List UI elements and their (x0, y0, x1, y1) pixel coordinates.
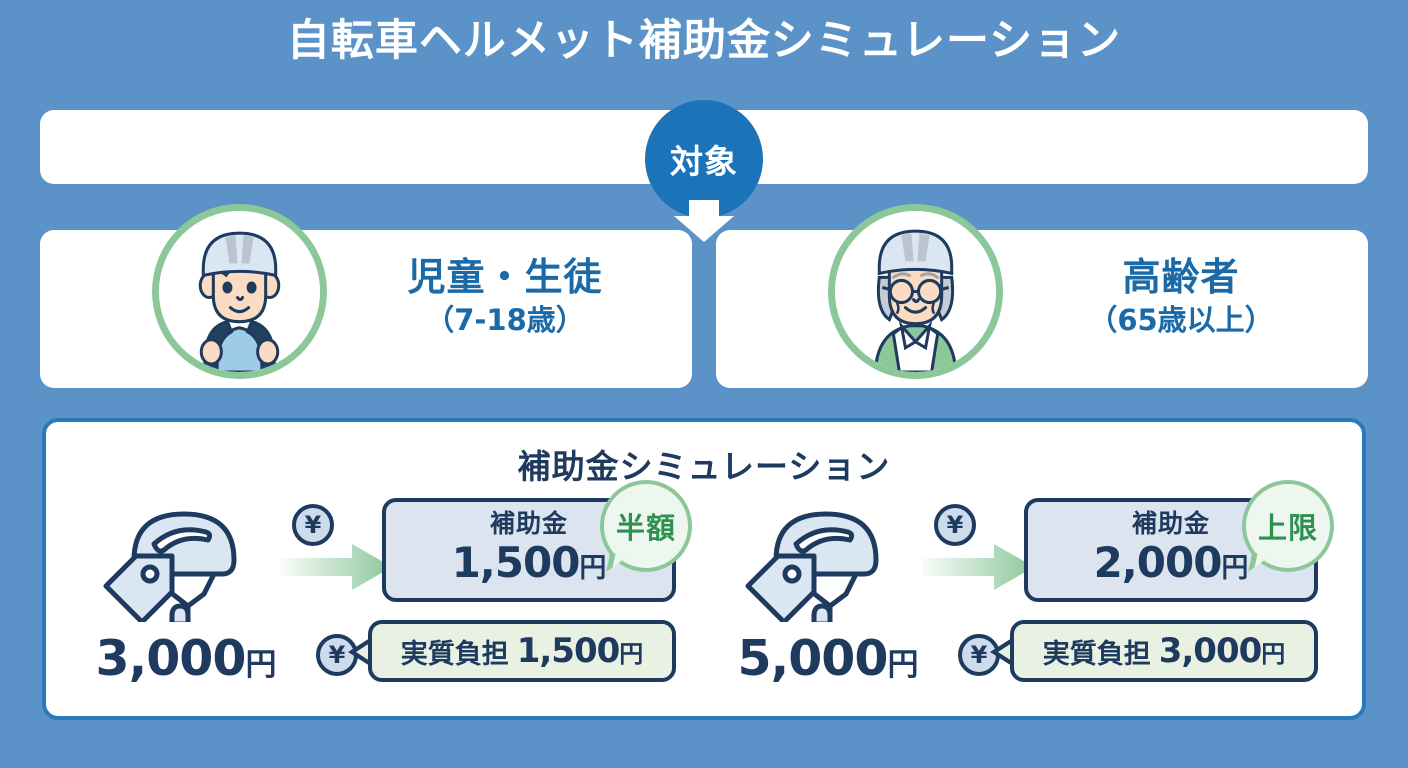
target-age: （7-18歳） (340, 302, 670, 338)
scenario-5000: 5,000円 ¥ 補助金 2,000円 (718, 492, 1358, 708)
target-name: 高齢者 (1016, 256, 1346, 300)
helmet-with-price-tag-icon (92, 496, 272, 622)
subsidy-amount-unit: 円 (1221, 553, 1248, 584)
page-title: 自転車ヘルメット補助金シミュレーション (0, 16, 1408, 68)
target-badge-label: 対象 (670, 135, 738, 183)
green-arrow-icon (922, 544, 1034, 590)
helmet-price: 3,000円 (86, 630, 286, 687)
subsidy-note-bubble: 半額 (600, 480, 692, 572)
green-arrow-icon (280, 544, 392, 590)
child-with-helmet-icon (152, 204, 327, 379)
burden-amount-unit: 円 (1261, 634, 1285, 669)
burden-box: 実質負担1,500円 (368, 620, 676, 682)
subsidy-amount-number: 1,500 (452, 538, 580, 587)
target-badge: 対象 (645, 100, 763, 240)
yen-coin-icon: ¥ (292, 504, 334, 546)
target-card-elderly: 高齢者 （65歳以上） (716, 230, 1368, 388)
target-card-children-text: 児童・生徒 （7-18歳） (340, 256, 670, 338)
subsidy-amount-number: 2,000 (1094, 538, 1222, 587)
helmet-price-unit: 円 (246, 647, 277, 683)
helmet-with-price-tag-icon (734, 496, 914, 622)
elderly-person-with-helmet-icon (828, 204, 1003, 379)
simulation-heading: 補助金シミュレーション (46, 440, 1362, 488)
burden-amount-number: 1,500 (517, 631, 620, 671)
simulation-card: 補助金シミュレーション 3,000円 (42, 418, 1366, 720)
subsidy-amount-unit: 円 (579, 553, 606, 584)
burden-box: 実質負担3,000円 (1010, 620, 1318, 682)
helmet-price: 5,000円 (728, 630, 928, 687)
target-card-elderly-text: 高齢者 （65歳以上） (1016, 256, 1346, 338)
infographic-root: 自転車ヘルメット補助金シミュレーション 対象 (0, 0, 1408, 768)
target-name: 児童・生徒 (340, 256, 670, 300)
yen-coin-icon: ¥ (934, 504, 976, 546)
burden-amount-number: 3,000 (1159, 631, 1262, 671)
burden-label: 実質負担 (1043, 632, 1151, 671)
helmet-price-number: 3,000 (96, 630, 246, 687)
helmet-price-number: 5,000 (738, 630, 888, 687)
burden-label: 実質負担 (401, 632, 509, 671)
helmet-price-unit: 円 (888, 647, 919, 683)
subsidy-note-bubble: 上限 (1242, 480, 1334, 572)
burden-amount-unit: 円 (619, 634, 643, 669)
target-card-children: 児童・生徒 （7-18歳） (40, 230, 692, 388)
scenario-3000: 3,000円 ¥ 補助金 1,500円 (76, 492, 716, 708)
target-age: （65歳以上） (1016, 302, 1346, 338)
